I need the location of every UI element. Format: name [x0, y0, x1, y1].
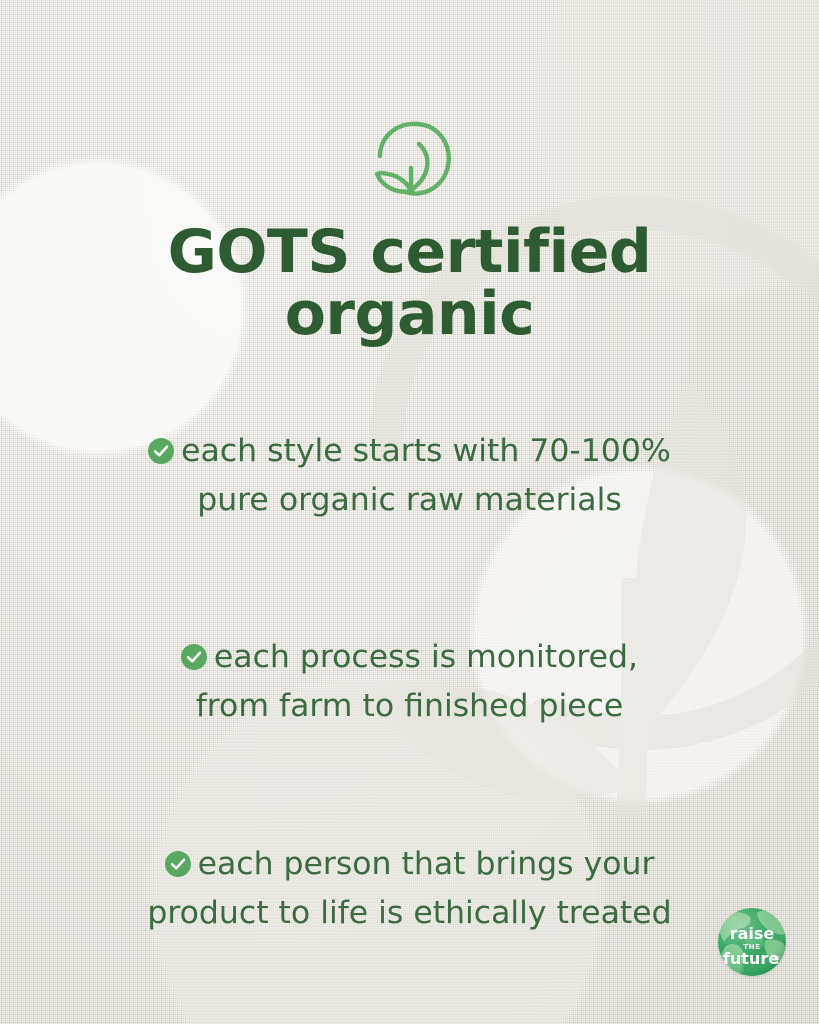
badge-line-3: future: [723, 949, 779, 968]
check-circle-icon: [148, 438, 174, 464]
claim-line-2: product to life is ethically treated: [147, 895, 671, 931]
headline-line-2: organic: [130, 284, 690, 346]
content-column: GOTS certified organic each style starts…: [0, 0, 819, 1024]
poster-canvas: GOTS certified organic each style starts…: [0, 0, 819, 1024]
claims-list: each style starts with 70-100% pure orga…: [110, 396, 710, 970]
list-item: each process is monitored, from farm to …: [110, 633, 710, 731]
sprout-in-circle-icon: [364, 118, 456, 204]
claim-line-1: each person that brings your: [198, 846, 655, 882]
claim-line-2: from farm to finished piece: [196, 688, 624, 724]
badge-trademark: ®: [775, 955, 780, 962]
badge-line-1: raise: [730, 924, 775, 943]
claim-line-1: each style starts with 70-100%: [181, 433, 671, 469]
brand-badge[interactable]: raise THE future ®: [718, 908, 786, 976]
check-circle-icon: [181, 644, 207, 670]
headline-line-1: GOTS certified: [168, 217, 652, 287]
claim-line-1: each process is monitored,: [214, 639, 638, 675]
list-item: each person that brings your product to …: [110, 840, 710, 938]
claim-line-2: pure organic raw materials: [197, 482, 622, 518]
list-item: each style starts with 70-100% pure orga…: [110, 427, 710, 525]
page-title: GOTS certified organic: [130, 222, 690, 346]
globe-icon: raise THE future ®: [718, 908, 786, 976]
check-circle-icon: [165, 851, 191, 877]
